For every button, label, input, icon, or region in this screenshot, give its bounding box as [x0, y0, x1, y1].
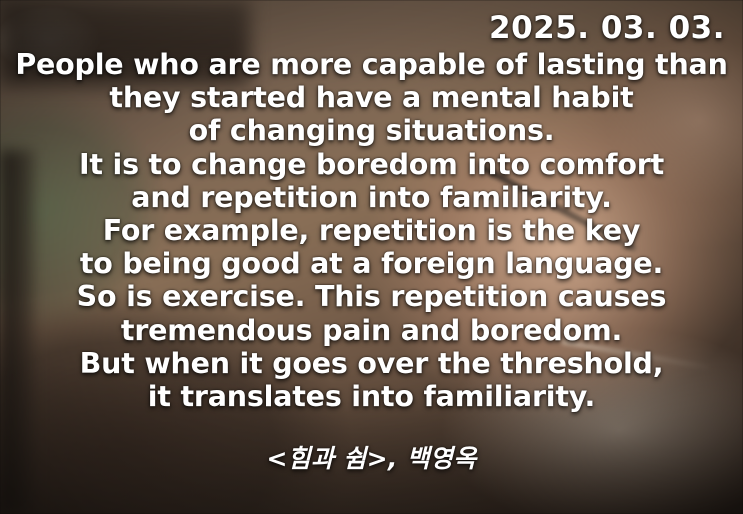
quote-text: People who are more capable of lasting t…: [0, 48, 743, 413]
quote-line: they started have a mental habit: [6, 81, 737, 114]
quote-line: of changing situations.: [6, 114, 737, 147]
quote-line: But when it goes over the threshold,: [6, 347, 737, 380]
quote-line: For example, repetition is the key: [6, 214, 737, 247]
quote-line: and repetition into familiarity.: [6, 181, 737, 214]
date-label: 2025. 03. 03.: [489, 10, 725, 46]
quote-card: 2025. 03. 03. People who are more capabl…: [0, 0, 743, 514]
overlay-content: 2025. 03. 03. People who are more capabl…: [0, 0, 743, 514]
quote-line: So is exercise. This repetition causes: [6, 280, 737, 313]
quote-line: It is to change boredom into comfort: [6, 148, 737, 181]
quote-line: it translates into familiarity.: [6, 380, 737, 413]
quote-line: to being good at a foreign language.: [6, 247, 737, 280]
quote-line: People who are more capable of lasting t…: [6, 48, 737, 81]
attribution-label: <힘과 쉼>, 백영옥: [0, 439, 743, 475]
quote-line: tremendous pain and boredom.: [6, 314, 737, 347]
